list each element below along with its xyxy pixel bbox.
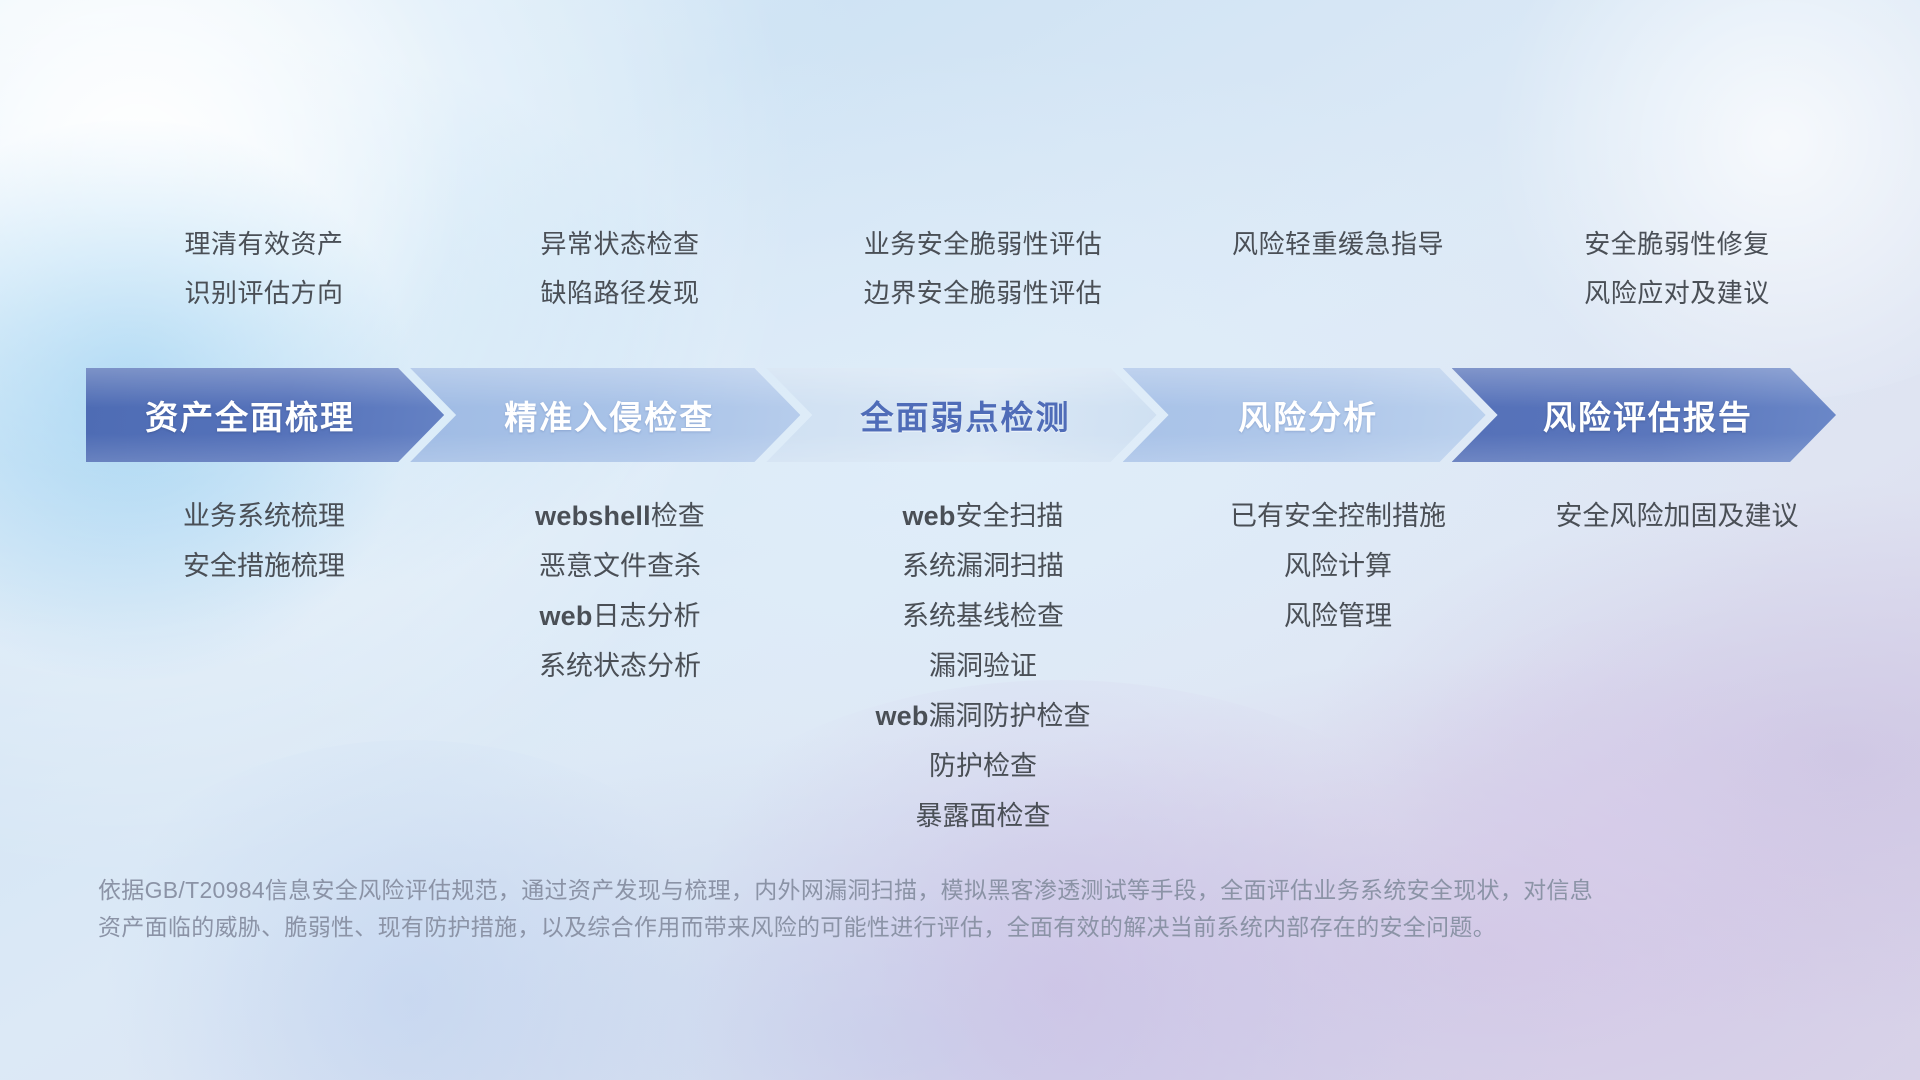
footer-description: 依据GB/T20984信息安全风险评估规范，通过资产发现与梳理，内外网漏洞扫描，…: [98, 872, 1698, 947]
process-arrow-band: 资产全面梳理 精准入侵检查 全面弱点检测 风险分析 风险评估报告: [86, 368, 1836, 462]
list-item: web漏洞防护检查: [875, 700, 1090, 733]
top-annotations-row: 理清有效资产 识别评估方向 异常状态检查 缺陷路径发现 业务安全脆弱性评估 边界…: [86, 228, 1846, 309]
stage-chevron-4[interactable]: 风险分析: [1123, 368, 1486, 462]
list-item: 业务系统梳理: [183, 500, 345, 533]
top-notes-stage-3: 业务安全脆弱性评估 边界安全脆弱性评估: [798, 228, 1168, 309]
list-item: 暴露面检查: [916, 800, 1051, 833]
footer-line-1: 依据GB/T20984信息安全风险评估规范，通过资产发现与梳理，内外网漏洞扫描，…: [98, 872, 1698, 909]
detail-list-stage-1: 业务系统梳理 安全措施梳理: [86, 500, 442, 583]
top-note: 异常状态检查: [540, 228, 699, 261]
top-note: 安全脆弱性修复: [1584, 228, 1770, 261]
stage-title: 风险分析: [1238, 391, 1378, 439]
top-note: 风险应对及建议: [1584, 277, 1770, 310]
list-item: 系统漏洞扫描: [902, 550, 1064, 583]
stage-chevron-3[interactable]: 全面弱点检测: [766, 368, 1156, 462]
detail-list-stage-2: webshell检查 恶意文件查杀 web日志分析 系统状态分析: [442, 500, 798, 683]
top-note: 缺陷路径发现: [540, 277, 699, 310]
list-item: 防护检查: [929, 750, 1037, 783]
list-item: 安全措施梳理: [183, 550, 345, 583]
list-item: 风险管理: [1284, 600, 1392, 633]
stage-title: 精准入侵检查: [504, 391, 714, 439]
list-item: 系统状态分析: [539, 650, 701, 683]
detail-list-stage-5: 安全风险加固及建议: [1508, 500, 1846, 533]
top-note: 风险轻重缓急指导: [1232, 228, 1444, 261]
stage-detail-lists-row: 业务系统梳理 安全措施梳理 webshell检查 恶意文件查杀 web日志分析 …: [86, 500, 1846, 833]
stage-chevron-1[interactable]: 资产全面梳理: [86, 368, 444, 462]
list-item: 已有安全控制措施: [1230, 500, 1446, 533]
detail-list-stage-4: 已有安全控制措施 风险计算 风险管理: [1168, 500, 1508, 633]
list-item: 安全风险加固及建议: [1556, 500, 1799, 533]
top-notes-stage-4: 风险轻重缓急指导: [1168, 228, 1508, 309]
top-note: 识别评估方向: [184, 277, 343, 310]
top-notes-stage-1: 理清有效资产 识别评估方向: [86, 228, 442, 309]
latin-token: web: [875, 701, 928, 731]
top-notes-stage-2: 异常状态检查 缺陷路径发现: [442, 228, 798, 309]
list-item: 风险计算: [1284, 550, 1392, 583]
top-note: 业务安全脆弱性评估: [864, 228, 1103, 261]
stage-chevron-5[interactable]: 风险评估报告: [1452, 368, 1836, 462]
list-item: 系统基线检查: [902, 600, 1064, 633]
detail-list-stage-3: web安全扫描 系统漏洞扫描 系统基线检查 漏洞验证 web漏洞防护检查 防护检…: [798, 500, 1168, 833]
slide-content: 理清有效资产 识别评估方向 异常状态检查 缺陷路径发现 业务安全脆弱性评估 边界…: [0, 0, 1920, 1080]
list-item: webshell检查: [535, 500, 705, 533]
slide-canvas: 理清有效资产 识别评估方向 异常状态检查 缺陷路径发现 业务安全脆弱性评估 边界…: [0, 0, 1920, 1080]
top-note: 边界安全脆弱性评估: [864, 277, 1103, 310]
stage-title: 资产全面梳理: [145, 391, 355, 439]
list-item: web安全扫描: [902, 500, 1063, 533]
footer-line-2: 资产面临的威胁、脆弱性、现有防护措施，以及综合作用而带来风险的可能性进行评估，全…: [98, 909, 1698, 946]
list-item: 漏洞验证: [929, 650, 1037, 683]
stage-title: 全面弱点检测: [860, 391, 1070, 439]
latin-token: web: [902, 501, 955, 531]
top-note: 理清有效资产: [184, 228, 343, 261]
top-notes-stage-5: 安全脆弱性修复 风险应对及建议: [1508, 228, 1846, 309]
list-item: web日志分析: [539, 600, 700, 633]
latin-token: web: [539, 601, 592, 631]
latin-token: webshell: [535, 501, 651, 531]
stage-chevron-2[interactable]: 精准入侵检查: [410, 368, 800, 462]
stage-title: 风险评估报告: [1543, 391, 1753, 439]
list-item: 恶意文件查杀: [539, 550, 701, 583]
